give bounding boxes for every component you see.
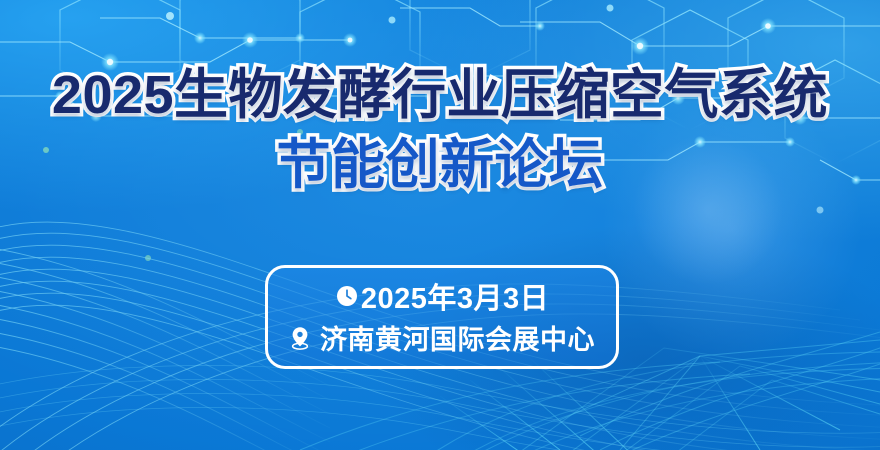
event-date-row: 2025年3月3日: [335, 275, 549, 317]
title-line-2: 节能创新论坛: [0, 136, 880, 194]
event-venue-row: 济南黄河国际会展中心: [289, 318, 595, 357]
event-banner: 2025生物发酵行业压缩空气系统 节能创新论坛 2025年3月3日: [0, 0, 880, 450]
page-title: 2025生物发酵行业压缩空气系统 节能创新论坛: [0, 66, 880, 195]
event-info-badge: 2025年3月3日 济南黄河国际会展中心: [265, 265, 619, 369]
location-pin-icon: [289, 326, 311, 350]
clock-icon: [335, 284, 359, 308]
title-line-1: 2025生物发酵行业压缩空气系统: [0, 66, 880, 124]
event-venue-text: 济南黄河国际会展中心: [320, 318, 595, 357]
banner-content: 2025生物发酵行业压缩空气系统 节能创新论坛 2025年3月3日: [0, 0, 880, 450]
event-date-text: 2025年3月3日: [361, 275, 549, 317]
